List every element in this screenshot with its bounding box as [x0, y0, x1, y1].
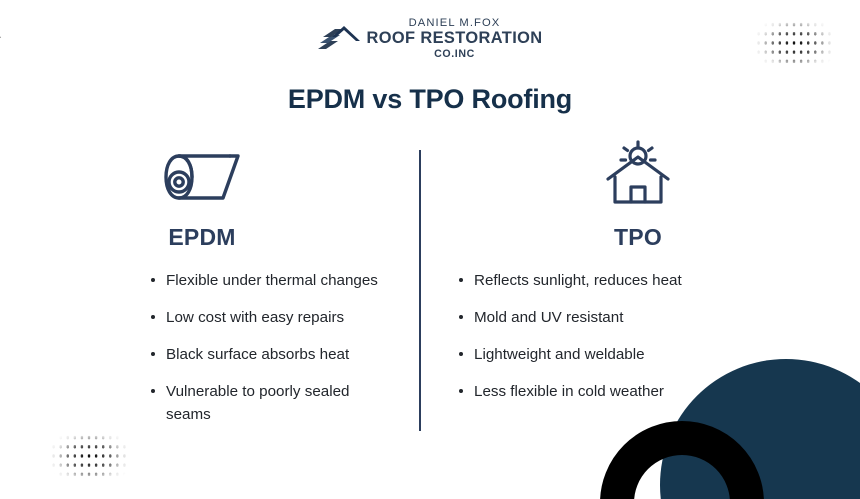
list-item: Black surface absorbs heat: [150, 343, 390, 366]
comparison-columns: EPDM Flexible under thermal changes Low …: [0, 140, 860, 440]
logo-line-2: ROOF RESTORATION: [366, 30, 542, 46]
column-epdm: EPDM Flexible under thermal changes Low …: [0, 140, 420, 440]
roof-shingles-icon: [317, 22, 363, 56]
infographic-canvas: DANIEL M.FOX ROOF RESTORATION CO.INC EPD…: [0, 0, 860, 499]
column-tpo: TPO Reflects sunlight, reduces heat Mold…: [420, 140, 840, 440]
logo-line-1: DANIEL M.FOX: [409, 18, 501, 29]
list-item: Mold and UV resistant: [458, 306, 826, 329]
list-item: Low cost with easy repairs: [150, 306, 390, 329]
page-title: EPDM vs TPO Roofing: [0, 84, 860, 115]
membrane-roll-icon: [160, 140, 244, 212]
brand-logo: DANIEL M.FOX ROOF RESTORATION CO.INC: [0, 18, 860, 59]
house-with-sun-icon: [600, 140, 676, 212]
list-item: Reflects sunlight, reduces heat: [458, 269, 826, 292]
list-item: Lightweight and weldable: [458, 343, 826, 366]
list-item: Flexible under thermal changes: [150, 269, 390, 292]
bullet-list-tpo: Reflects sunlight, reduces heat Mold and…: [436, 269, 840, 417]
list-item: Vulnerable to poorly sealed seams: [150, 380, 390, 426]
column-heading-tpo: TPO: [614, 224, 662, 251]
list-item: Less flexible in cold weather: [458, 380, 826, 403]
logo-line-3: CO.INC: [434, 49, 475, 60]
bullet-list-epdm: Flexible under thermal changes Low cost …: [0, 269, 404, 440]
column-heading-epdm: EPDM: [168, 224, 235, 251]
